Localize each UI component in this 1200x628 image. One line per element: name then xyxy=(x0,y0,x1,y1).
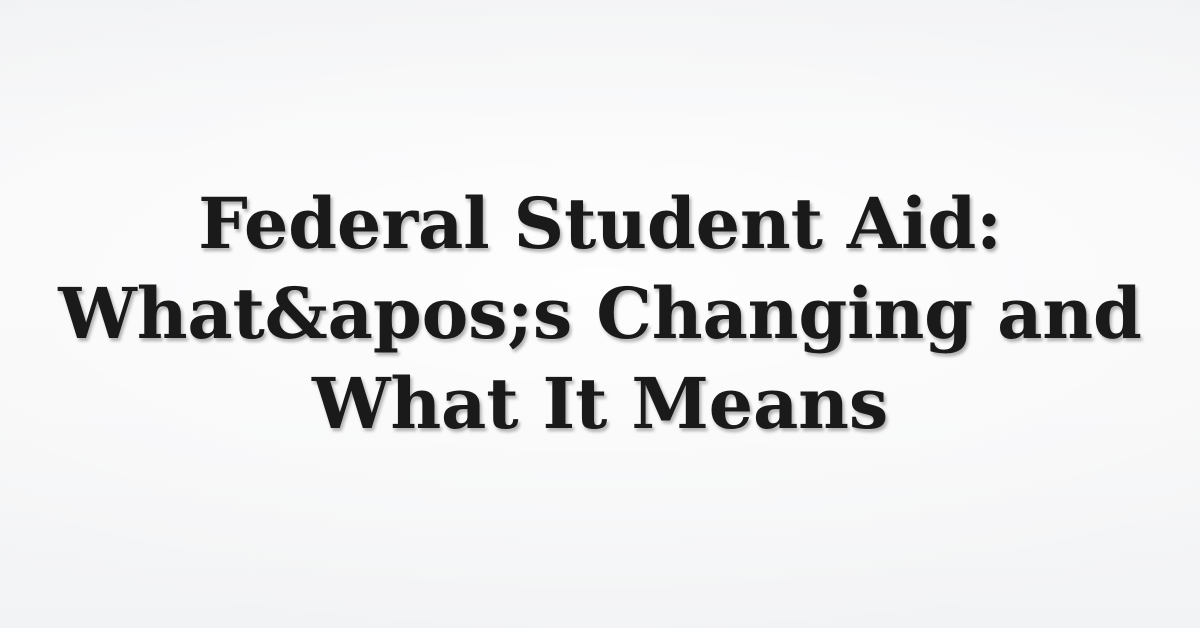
og-banner-card: Federal Student Aid: What&apos;s Changin… xyxy=(0,0,1200,628)
page-title: Federal Student Aid: What&apos;s Changin… xyxy=(48,179,1152,449)
title-container: Federal Student Aid: What&apos;s Changin… xyxy=(0,0,1200,628)
